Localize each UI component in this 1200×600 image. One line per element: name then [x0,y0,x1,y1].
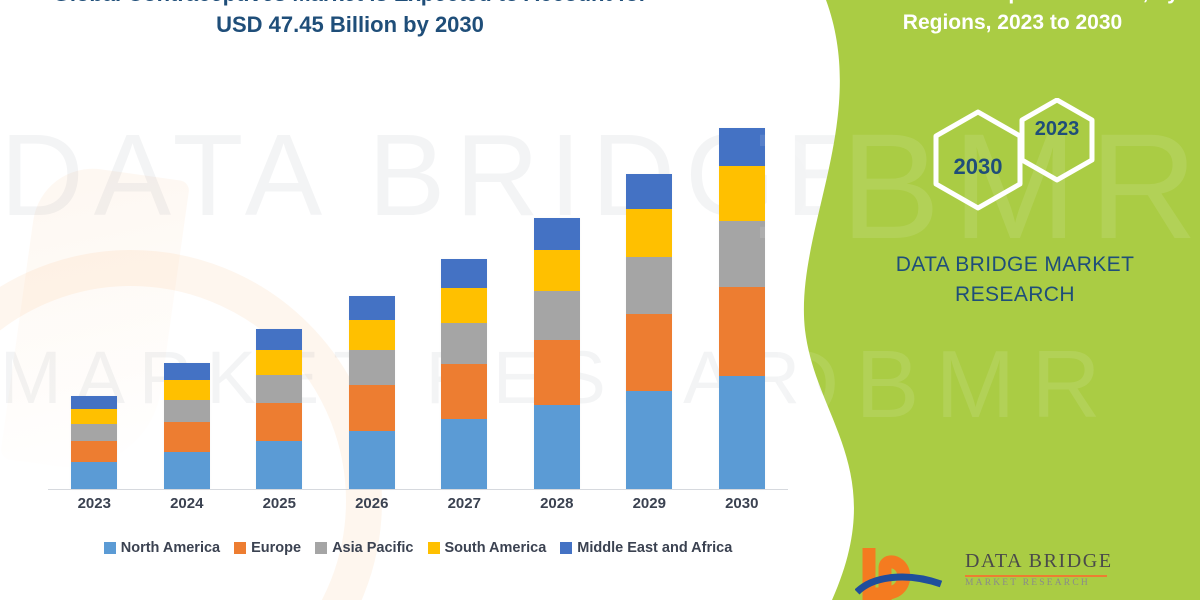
brand-panel-content: DBMR DBMR Global Contraceptives Market, … [760,0,1200,600]
bar-segment [441,419,487,489]
bar-segment [71,409,117,424]
bar-column [233,329,325,489]
bar-segment [349,431,395,489]
bar-segment [441,259,487,287]
stacked-bar [71,396,117,489]
legend-swatch-icon [104,542,116,554]
x-axis-label: 2029 [603,495,695,512]
x-axis-label: 2023 [48,495,140,512]
bar-segment [71,424,117,440]
bar-column [326,296,418,489]
bar-segment [534,218,580,250]
x-axis-label: 2026 [326,495,418,512]
x-axis-line [48,489,788,490]
infographic-root: DATA BRIDGE MARKET RESEARCH Global Contr… [0,0,1200,600]
bar-segment [534,340,580,406]
stacked-bar [719,128,765,489]
data-bridge-logo: DATA BRIDGE MARKET RESEARCH [855,548,1185,600]
bar-segment [719,166,765,221]
brand-panel: DBMR DBMR Global Contraceptives Market, … [760,0,1200,600]
bar-segment [626,174,672,209]
legend-item[interactable]: Middle East and Africa [560,540,732,556]
stacked-bar [534,218,580,489]
bar-column [603,174,695,489]
bar-segment [719,287,765,376]
green-watermark-2: DBMR [770,330,1117,440]
logo-divider [965,575,1107,577]
x-axis-label: 2024 [141,495,233,512]
logo-wordmark: DATA BRIDGE MARKET RESEARCH [965,550,1113,588]
bar-segment [164,363,210,380]
bar-segment [441,364,487,419]
legend-label: South America [445,540,547,556]
chart-legend: North AmericaEuropeAsia PacificSouth Ame… [48,540,788,556]
legend-swatch-icon [428,542,440,554]
legend-swatch-icon [560,542,572,554]
bar-segment [256,441,302,489]
bar-column [511,218,603,489]
hexagon-2030-label: 2030 [926,154,1030,180]
bar-segment [256,350,302,375]
x-axis-label: 2027 [418,495,510,512]
legend-item[interactable]: Asia Pacific [315,540,413,556]
hexagon-group: 2030 2023 [910,98,1140,228]
bar-segment [71,441,117,463]
legend-item[interactable]: South America [428,540,547,556]
bar-segment [349,320,395,350]
bar-segment [534,291,580,339]
bar-group [48,90,788,489]
brand-name: DATA BRIDGE MARKET RESEARCH [845,250,1185,310]
bar-column [48,396,140,489]
bar-segment [534,250,580,292]
plot-area [48,90,788,490]
legend-item[interactable]: North America [104,540,220,556]
bar-segment [164,422,210,452]
logo-name-line2: MARKET RESEARCH [965,578,1113,588]
stacked-bar [441,259,487,489]
bar-segment [71,396,117,409]
bar-segment [626,391,672,489]
bar-segment [719,376,765,489]
bar-segment [441,288,487,323]
bar-segment [534,405,580,489]
legend-item[interactable]: Europe [234,540,301,556]
bar-segment [256,403,302,441]
stacked-bar [256,329,302,489]
legend-label: Asia Pacific [332,540,413,556]
bar-segment [71,462,117,489]
legend-swatch-icon [234,542,246,554]
bar-segment [626,209,672,257]
bar-segment [626,314,672,391]
legend-label: North America [121,540,220,556]
stacked-bar [164,363,210,489]
bar-column [141,363,233,489]
hexagon-2023-label: 2023 [1014,118,1100,141]
stacked-bar [626,174,672,489]
logo-mark-icon [855,548,960,600]
bar-segment [441,323,487,364]
bar-segment [349,296,395,321]
bar-segment [719,221,765,287]
bar-segment [164,452,210,489]
chart-panel: DATA BRIDGE MARKET RESEARCH Global Contr… [0,0,850,600]
chart-title: Global Contraceptives Market is Expected… [30,0,670,40]
x-axis-labels: 20232024202520262027202820292030 [48,495,788,512]
bar-segment [626,257,672,314]
bar-segment [256,375,302,403]
bar-segment [349,350,395,384]
brand-panel-title: Global Contraceptives Market, by Regions… [840,0,1185,38]
bar-segment [164,380,210,399]
logo-name-line1: DATA BRIDGE [965,550,1113,573]
stacked-bar [349,296,395,489]
bar-segment [256,329,302,350]
legend-label: Europe [251,540,301,556]
legend-label: Middle East and Africa [577,540,732,556]
bar-segment [719,128,765,166]
bar-segment [349,385,395,431]
x-axis-label: 2028 [511,495,603,512]
bar-column [418,259,510,489]
x-axis-label: 2025 [233,495,325,512]
legend-swatch-icon [315,542,327,554]
bar-segment [164,400,210,422]
